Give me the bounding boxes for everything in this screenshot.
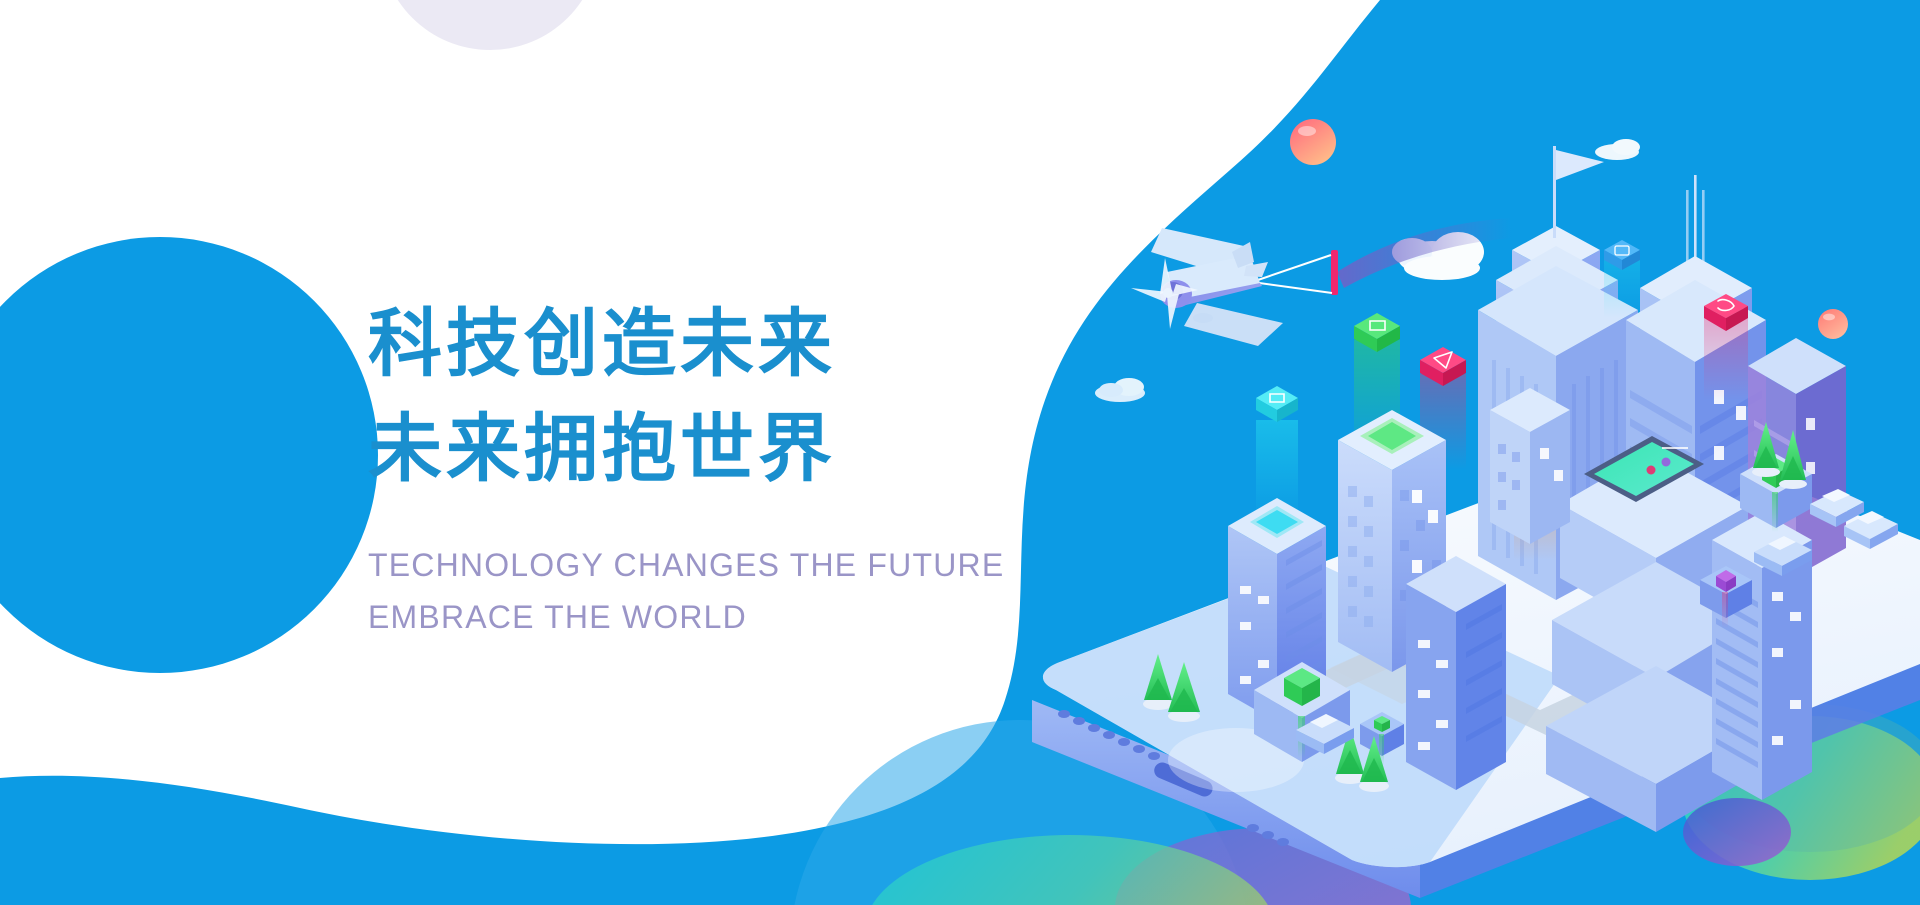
hero-banner: 科技创造未来 未来拥抱世界 TECHNOLOGY CHANGES THE FUT… bbox=[0, 0, 1920, 905]
headline-line-1: 科技创造未来 bbox=[368, 292, 1088, 397]
subtitle-block: TECHNOLOGY CHANGES THE FUTURE EMBRACE TH… bbox=[368, 540, 1088, 644]
badge-phone-pink bbox=[1704, 294, 1748, 400]
skyscraper-front-dark bbox=[1406, 556, 1506, 790]
cloud-icon-top bbox=[1595, 139, 1640, 160]
headline-line-2: 未来拥抱世界 bbox=[368, 397, 1088, 502]
hero-text-block: 科技创造未来 未来拥抱世界 TECHNOLOGY CHANGES THE FUT… bbox=[368, 292, 1088, 644]
cloud-icon-small bbox=[1095, 378, 1145, 402]
sun-ball-large bbox=[1290, 119, 1336, 165]
subtitle-line-1: TECHNOLOGY CHANGES THE FUTURE bbox=[368, 540, 1088, 592]
badge-card-blue bbox=[1604, 240, 1640, 318]
flag-pole bbox=[1553, 146, 1556, 238]
building-small-a bbox=[1490, 388, 1570, 544]
airplane-icon bbox=[1131, 218, 1512, 346]
sun-ball-small bbox=[1818, 309, 1848, 339]
subtitle-line-2: EMBRACE THE WORLD bbox=[368, 592, 1088, 644]
plane-wing-bottom bbox=[1184, 303, 1283, 346]
banner-flag bbox=[1331, 250, 1338, 295]
